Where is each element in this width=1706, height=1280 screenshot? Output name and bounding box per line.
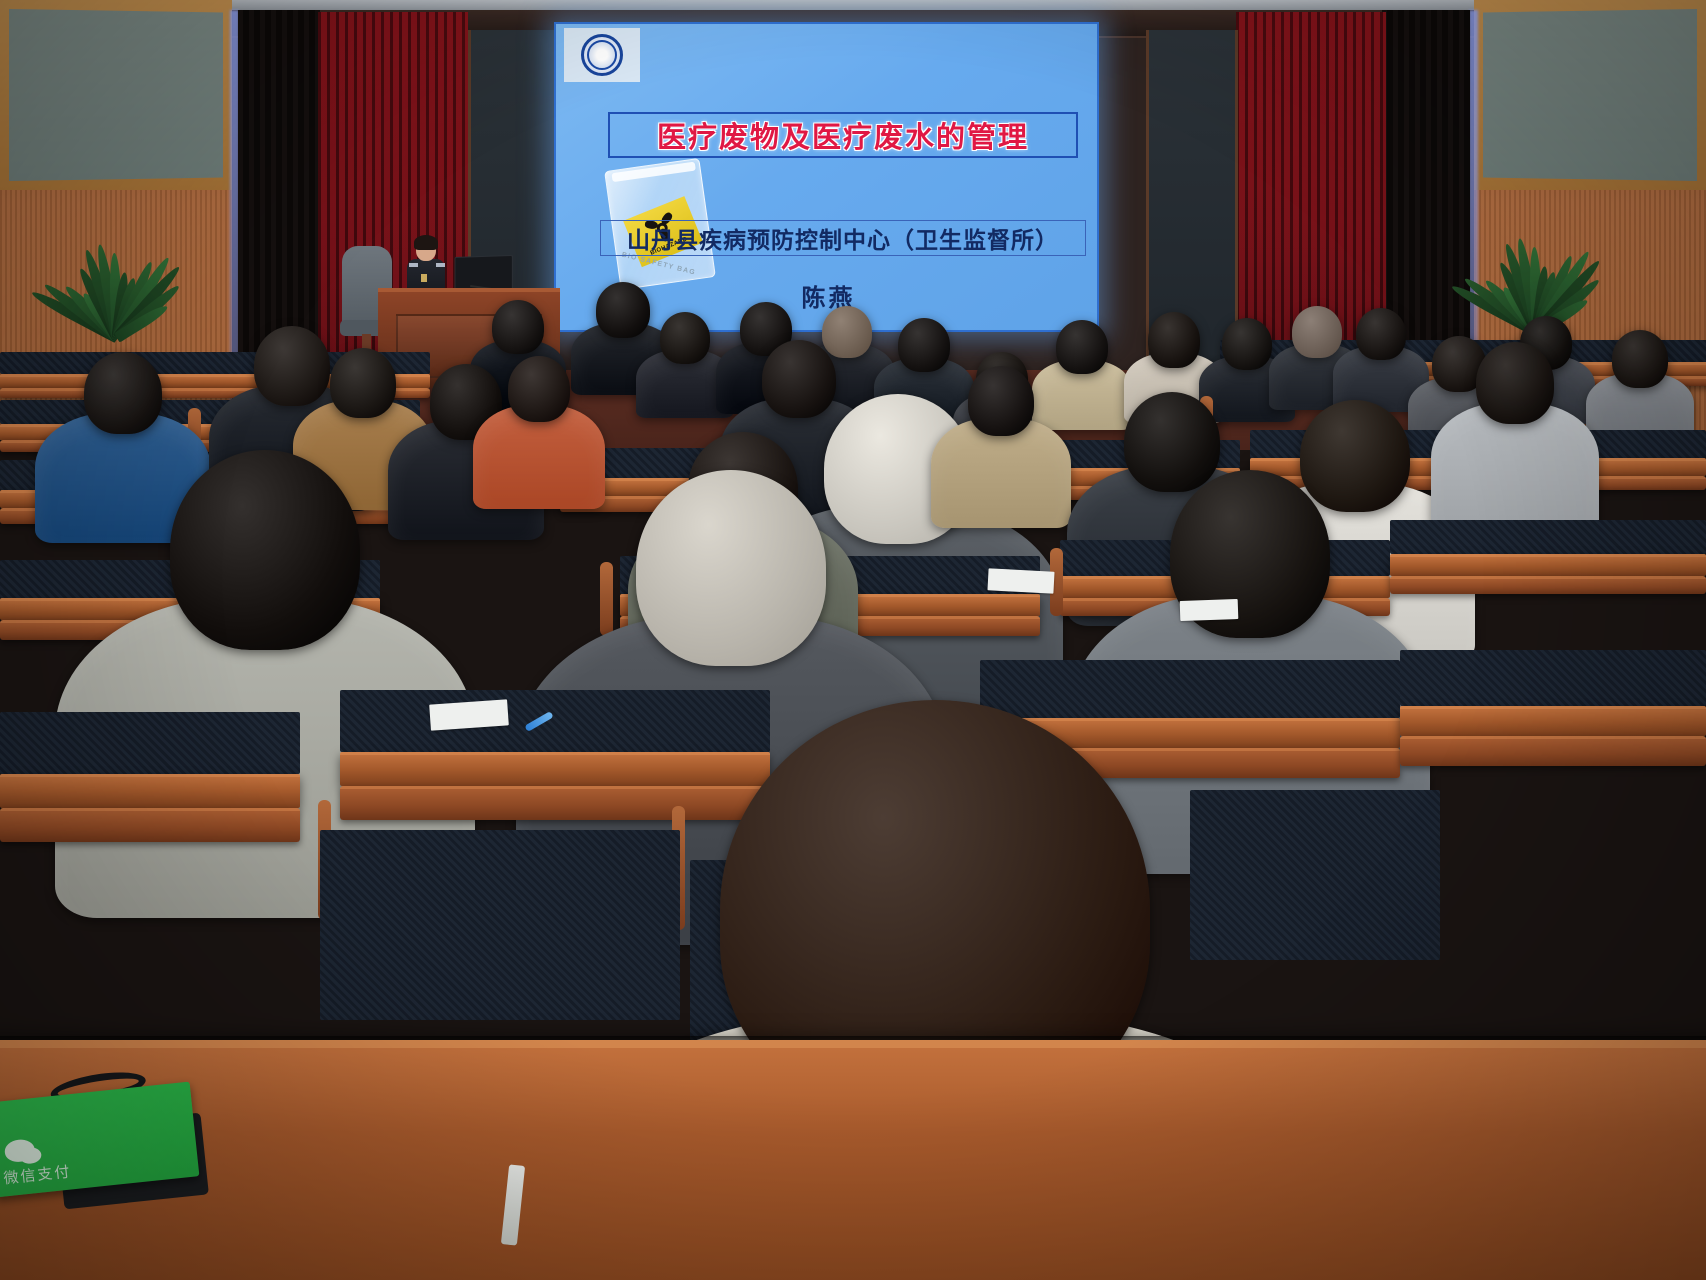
bench-desktop xyxy=(340,752,770,786)
attendee-ponytail xyxy=(1148,312,1200,368)
attendee-long-ponytail xyxy=(1300,400,1410,512)
attendee-bun-hair xyxy=(660,312,710,364)
slide-organization-box: 山丹县疾病预防控制中心（卫生监督所） xyxy=(600,220,1086,256)
attendee-braided-hair xyxy=(254,326,330,406)
auditorium-scene: 医疗废物及医疗废水的管理 BIOHAZARD BIO SAFETY BAG 山丹… xyxy=(0,0,1706,1280)
white-paper xyxy=(1180,599,1239,621)
attendee-khaki-vest xyxy=(968,366,1034,436)
wall-art-frame-right xyxy=(1474,0,1706,190)
wall-art-frame-left xyxy=(0,0,232,190)
attendee-back-row-a xyxy=(1222,318,1272,370)
attendee-navy-coat xyxy=(596,282,650,338)
attendee-tan-coat xyxy=(330,348,396,418)
white-paper xyxy=(987,568,1054,593)
bench-desktop xyxy=(1390,554,1706,576)
attendee-dark-suit xyxy=(492,300,544,354)
bench-seat xyxy=(340,786,770,820)
bench-seat xyxy=(1390,576,1706,594)
attendee-flower-clip xyxy=(762,340,836,418)
front-row-desk xyxy=(0,1040,1706,1280)
bench-backrest xyxy=(1390,520,1706,554)
slide-organization: 山丹县疾病预防控制中心（卫生监督所） xyxy=(627,221,1059,255)
cdc-circular-emblem xyxy=(564,28,640,82)
attendee-back-row-c xyxy=(1356,308,1406,360)
uniformed-presenter xyxy=(404,238,448,294)
bench-armrest xyxy=(600,562,613,636)
bench-seat-panel xyxy=(1190,790,1440,960)
attendee-back-row-b xyxy=(1292,306,1342,358)
white-paper xyxy=(429,699,509,730)
bench-backrest xyxy=(340,690,770,752)
bench-backrest xyxy=(980,660,1400,718)
bench-seat xyxy=(0,808,300,842)
potted-plant-left xyxy=(52,238,182,338)
attendee-headband-woman xyxy=(170,450,360,650)
attendee-denim-jacket xyxy=(84,352,162,434)
bench-desktop xyxy=(0,774,300,808)
attendee-grey-shirt-man xyxy=(636,470,826,666)
attendee-grey-suit xyxy=(1124,392,1220,492)
attendee-cream-vest xyxy=(1056,320,1108,374)
slide-title-box: 医疗废物及医疗废水的管理 xyxy=(608,112,1078,158)
attendee-side-right xyxy=(1476,342,1554,424)
attendee-coral-top xyxy=(508,356,570,422)
notebook-brand-text: 微信支付 xyxy=(2,1160,72,1188)
attendee-bald-man xyxy=(822,306,872,358)
bench-backrest xyxy=(0,712,300,774)
wechat-pay-icon xyxy=(4,1138,36,1163)
bench-seat-panel xyxy=(320,830,680,1020)
attendee-mint-top xyxy=(898,318,950,372)
bench-backrest xyxy=(1400,650,1706,706)
slide-title: 医疗废物及医疗废水的管理 xyxy=(657,114,1029,156)
attendee-back-row-f xyxy=(1612,330,1668,388)
bench-desktop xyxy=(1400,706,1706,736)
bench-seat xyxy=(1400,736,1706,766)
